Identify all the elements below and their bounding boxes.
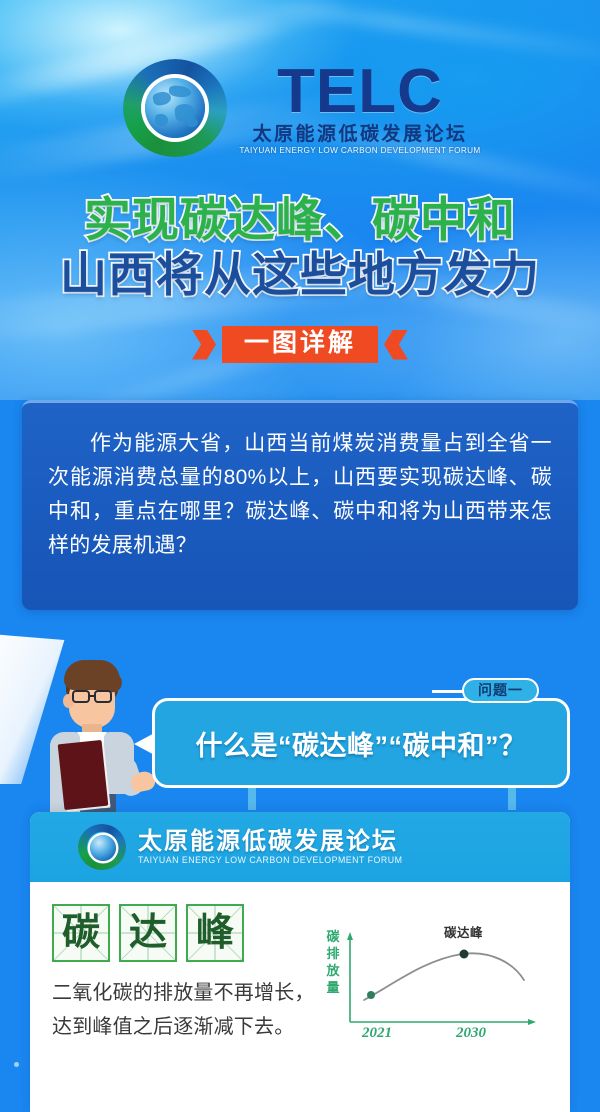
chart-x-tick: 2030 xyxy=(456,1025,486,1042)
telc-globe-c-logo-icon xyxy=(78,824,126,870)
brand-logo: TELC 太原能源低碳发展论坛 TAIYUAN ENERGY LOW CARBO… xyxy=(0,52,600,164)
character-cell: 碳 xyxy=(52,904,110,962)
page-edge-dot xyxy=(14,1062,19,1067)
chevron-left-icon xyxy=(192,330,216,360)
question-number-badge: 问题一 xyxy=(462,678,539,703)
character-cell: 峰 xyxy=(186,904,244,962)
chart-x-axis-arrow-icon xyxy=(528,1019,536,1025)
bubble-stand-leg xyxy=(508,788,516,810)
card-brand-name-en: TAIYUAN ENERGY LOW CARBON DEVELOPMENT FO… xyxy=(138,856,402,865)
card-brand-wordmark: 太原能源低碳发展论坛 TAIYUAN ENERGY LOW CARBON DEV… xyxy=(138,829,402,865)
glasses-bridge-icon xyxy=(89,695,95,697)
question-section: 什么是“碳达峰”“碳中和”？ 问题一 xyxy=(0,640,600,815)
question-text: 什么是“碳达峰”“碳中和”？ xyxy=(196,724,527,763)
chart-x-tick: 2021 xyxy=(362,1025,392,1042)
chevron-right-icon xyxy=(384,330,408,360)
question-badge-connector xyxy=(432,690,466,693)
bubble-stand-leg xyxy=(248,788,256,810)
globe-landmass xyxy=(187,118,198,127)
intro-paragraph: 作为能源大省，山西当前煤炭消费量占到全省一次能源消费总量的80%以上，山西要实现… xyxy=(48,427,552,563)
carbon-peak-chart: 碳 排 放 量 碳达峰 2021 xyxy=(324,922,548,1040)
card-brand-name-cn: 太原能源低碳发展论坛 xyxy=(138,829,402,854)
headline-badge-label: 一图详解 xyxy=(222,326,378,363)
emissions-chart-block: 碳 排 放 量 碳达峰 2021 xyxy=(324,904,548,1044)
question-speech-bubble: 什么是“碳达峰”“碳中和”？ xyxy=(152,698,570,788)
chart-marker-peak xyxy=(460,950,469,959)
man-with-book-icon xyxy=(36,654,154,814)
page-title: 实现碳达峰、碳中和 山西将从这些地方发力 xyxy=(0,192,600,303)
term-character-grid: 碳 达 峰 xyxy=(52,904,324,962)
intro-panel: 作为能源大省，山西当前煤炭消费量占到全省一次能源消费总量的80%以上，山西要实现… xyxy=(22,400,578,610)
chart-plot-area xyxy=(324,922,548,1040)
answer-card: 太原能源低碳发展论坛 TAIYUAN ENERGY LOW CARBON DEV… xyxy=(30,812,570,1112)
character-glyph: 碳 xyxy=(62,914,100,952)
telc-globe-c-logo-icon xyxy=(119,55,231,161)
globe-icon xyxy=(145,78,205,138)
headline-line-2: 山西将从这些地方发力 xyxy=(0,247,600,302)
globe-landmass xyxy=(155,114,168,126)
term-definition-text: 二氧化碳的排放量不再增长，达到峰值之后逐渐减下去。 xyxy=(52,976,324,1044)
card-brand-header: 太原能源低碳发展论坛 TAIYUAN ENERGY LOW CARBON DEV… xyxy=(30,812,570,882)
chart-emissions-curve xyxy=(364,953,524,1000)
character-glyph: 峰 xyxy=(196,914,234,952)
character-cell: 达 xyxy=(119,904,177,962)
brand-acronym: TELC xyxy=(277,63,443,121)
headline-line-1: 实现碳达峰、碳中和 xyxy=(0,192,600,247)
brand-name-cn: 太原能源低碳发展论坛 xyxy=(252,125,467,144)
globe-icon xyxy=(90,835,116,861)
brand-wordmark: TELC 太原能源低碳发展论坛 TAIYUAN ENERGY LOW CARBO… xyxy=(239,63,480,154)
chart-marker-2021 xyxy=(367,991,375,999)
book-icon xyxy=(58,740,109,810)
headline-badge: 一图详解 xyxy=(0,326,600,363)
term-definition-block: 碳 达 峰 二氧化碳的排放量不再增长，达到峰值之后逐渐减下去。 xyxy=(52,904,324,1044)
glasses-lens-right-icon xyxy=(94,690,112,703)
character-glyph: 达 xyxy=(129,914,167,952)
chart-y-axis-arrow-icon xyxy=(347,932,353,940)
glasses-lens-left-icon xyxy=(72,690,90,703)
card-body: 碳 达 峰 二氧化碳的排放量不再增长，达到峰值之后逐渐减下去。 碳 排 放 量 xyxy=(30,882,570,1044)
brand-name-en: TAIYUAN ENERGY LOW CARBON DEVELOPMENT FO… xyxy=(239,147,480,155)
globe-landmass xyxy=(169,85,192,98)
